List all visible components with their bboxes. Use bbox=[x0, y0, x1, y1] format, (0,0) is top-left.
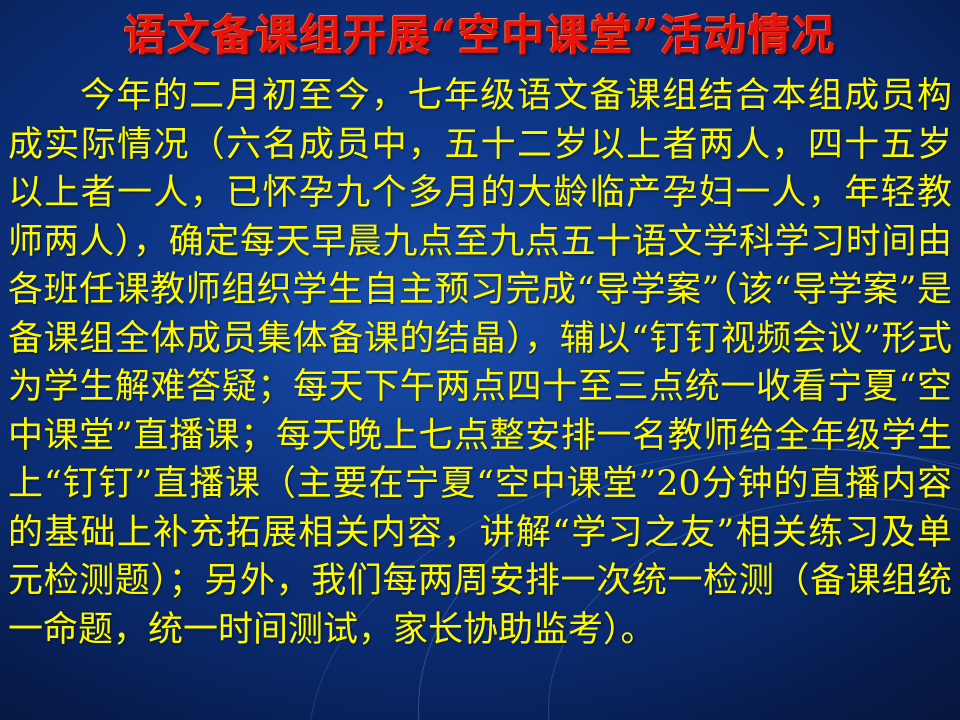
page-title: 语文备课组开展“空中课堂”活动情况 bbox=[124, 8, 836, 64]
presentation-slide: 语文备课组开展“空中课堂”活动情况 今年的二月初至今，七年级语文备课组结合本组成… bbox=[0, 0, 960, 720]
slide-body-container: 今年的二月初至今，七年级语文备课组结合本组成员构成实际情况（六名成员中，五十二岁… bbox=[8, 72, 952, 654]
slide-title-container: 语文备课组开展“空中课堂”活动情况 bbox=[0, 8, 960, 64]
slide-body-text: 今年的二月初至今，七年级语文备课组结合本组成员构成实际情况（六名成员中，五十二岁… bbox=[8, 72, 952, 654]
